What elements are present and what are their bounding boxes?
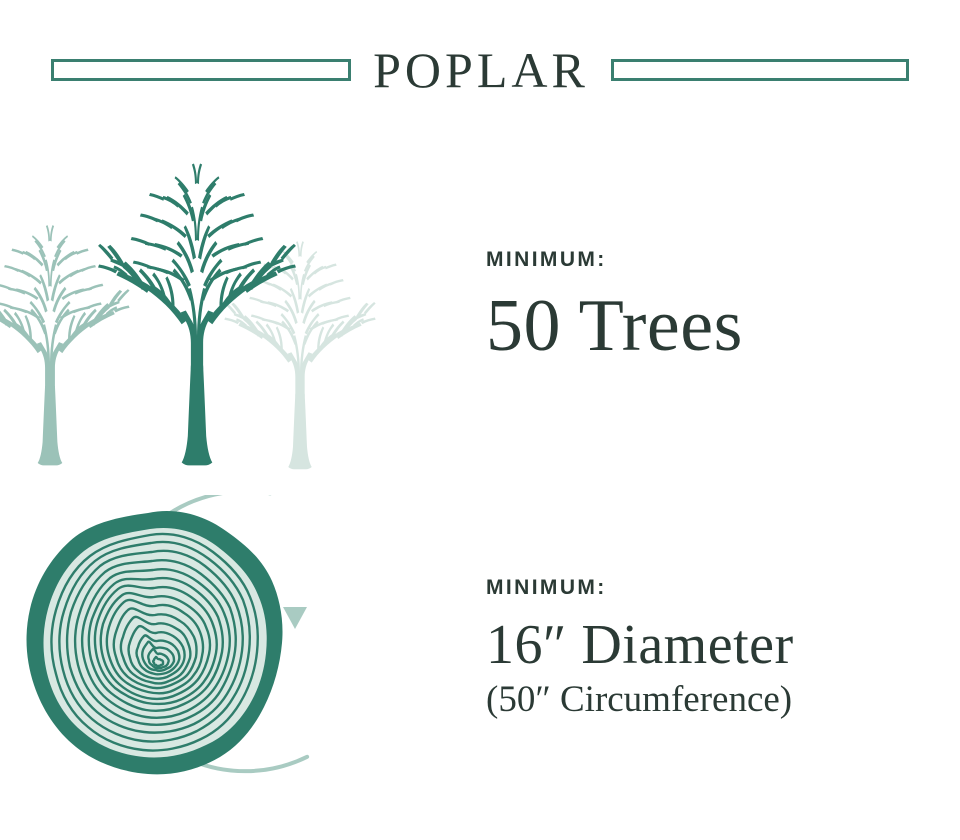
rings-text-block: MINIMUM: 16″ Diameter (50″ Circumference… [470,576,960,723]
tree-left [0,225,130,465]
diameter-value: 16″ Diameter [486,618,960,673]
wood-interior [44,528,267,758]
tree-center [98,164,296,466]
header: POPLAR [0,30,960,110]
tree-rings-svg [0,495,470,805]
circumference-value: (50″ Circumference) [486,677,960,723]
page-title: POPLAR [373,45,589,95]
header-rule-right [611,59,909,81]
rings-illustration [0,495,470,805]
rings-minimum-label: MINIMUM: [486,576,960,600]
header-rule-left [51,59,351,81]
trees-value: 50 Trees [486,290,960,363]
three-bare-trees-svg [0,130,470,480]
section-rings: MINIMUM: 16″ Diameter (50″ Circumference… [0,495,960,805]
trees-text-block: MINIMUM: 50 Trees [470,248,960,363]
section-trees: MINIMUM: 50 Trees [0,130,960,480]
trees-minimum-label: MINIMUM: [486,248,960,272]
trees-illustration [0,130,470,480]
